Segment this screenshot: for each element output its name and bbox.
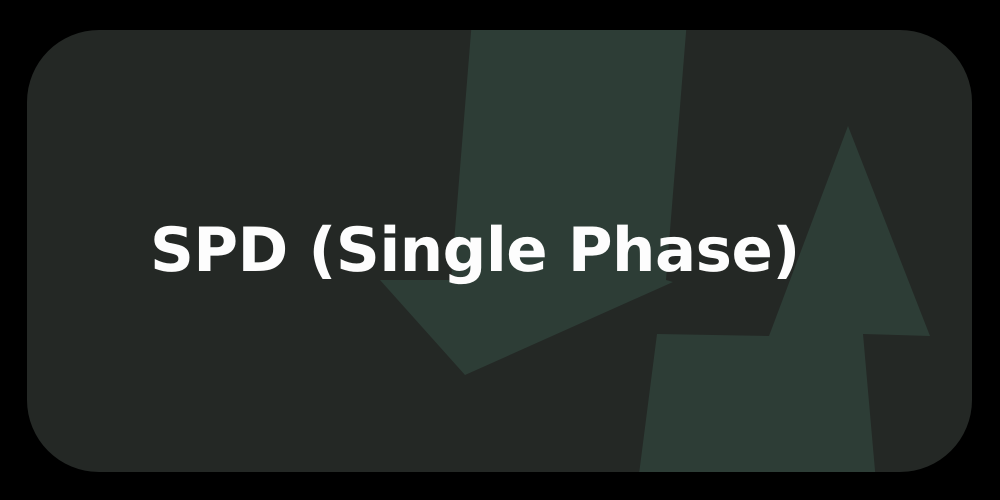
arrow-up-icon: [638, 126, 930, 472]
spd-single-phase-card[interactable]: SPD (Single Phase): [27, 30, 972, 472]
screenshot-canvas: SPD (Single Phase): [0, 0, 1000, 500]
arrow-down-icon: [380, 30, 687, 375]
crossing-arrows-artwork: [27, 30, 972, 472]
